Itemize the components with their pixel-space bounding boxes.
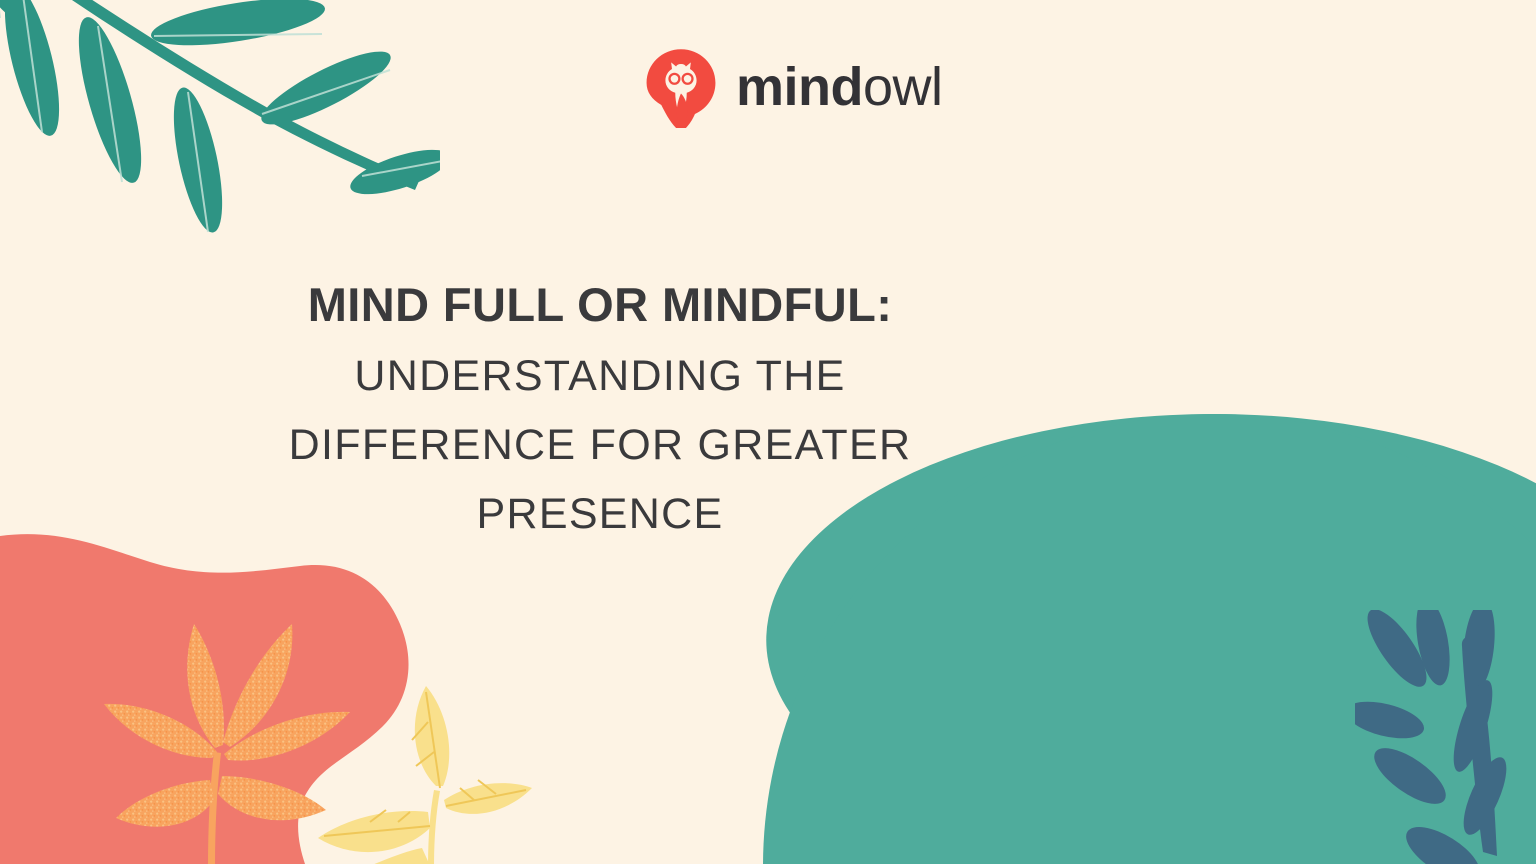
owl-logo-icon (640, 46, 722, 128)
wordmark-mind: mind (736, 57, 863, 117)
headline-subtitle-line-1: UNDERSTANDING THE (180, 355, 1020, 398)
headline-subtitle-line-3: PRESENCE (180, 493, 1020, 536)
slate-blue-fern-icon (1355, 610, 1536, 864)
wordmark-owl: owl (863, 57, 943, 117)
slide-headline-block: MIND FULL OR MINDFUL: UNDERSTANDING THE … (180, 280, 1020, 536)
mindowl-logo[interactable]: mindowl (640, 46, 943, 128)
presentation-slide: mindowl MIND FULL OR MINDFUL: UNDERSTAND… (0, 0, 1536, 864)
orange-leaf-plant-icon (60, 590, 390, 864)
yellow-leaf-plant-icon (300, 670, 550, 864)
teal-leaf-branch-icon (0, 0, 440, 240)
mindowl-wordmark: mindowl (736, 60, 943, 114)
headline-main-title: MIND FULL OR MINDFUL: (180, 280, 1020, 329)
headline-subtitle-line-2: DIFFERENCE FOR GREATER (180, 424, 1020, 467)
